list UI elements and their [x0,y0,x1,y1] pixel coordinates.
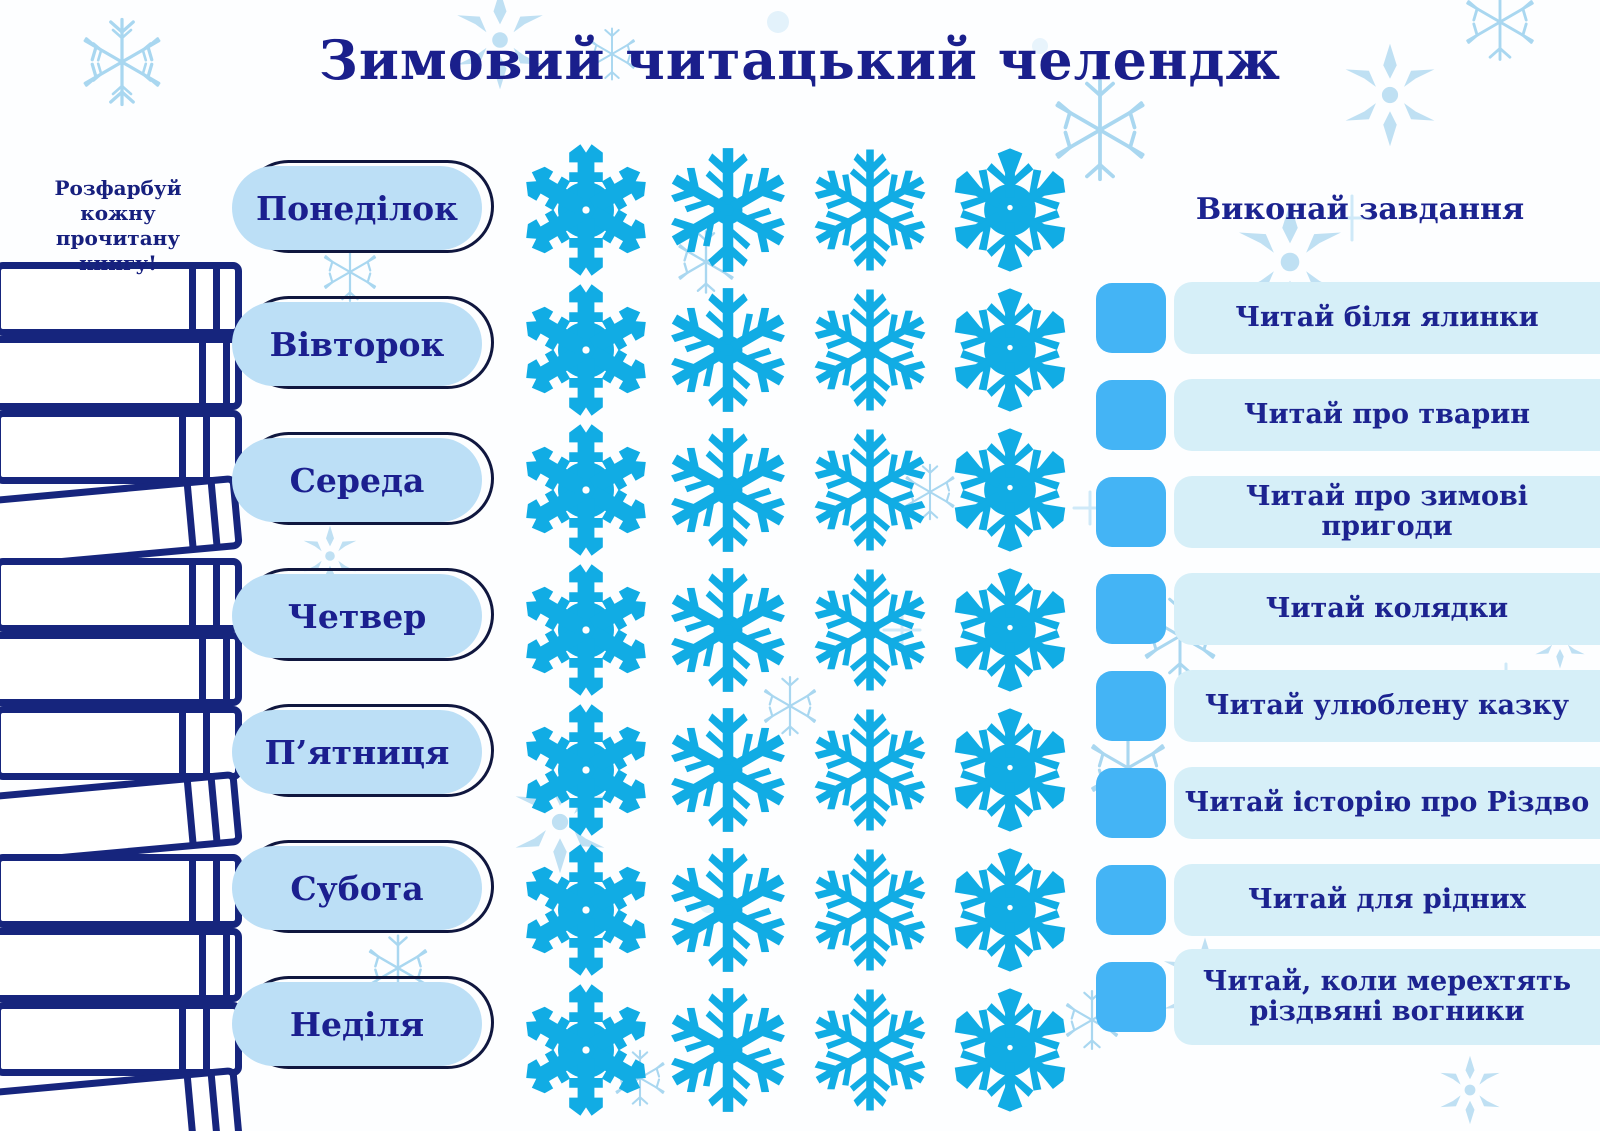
day-pill-7[interactable]: Неділя [232,976,484,1073]
book-spine-line [213,268,220,330]
book-spine-line [199,934,206,996]
book-spine-line [199,638,206,700]
day-pill-label: Понеділок [256,189,458,228]
book-spine-line [223,342,230,404]
task-label-line1: Читай про зимові пригоди [1184,482,1590,542]
snowflake-classic-branch-flake [662,984,794,1116]
task-row-7[interactable]: Читай для рідних [1096,860,1600,940]
task-checkbox[interactable] [1096,574,1166,644]
task-row-2[interactable]: Читай про тварин [1096,375,1600,455]
snowflake-classic-branch-flake [662,424,794,556]
snowflake-dense-burst-flake [948,708,1071,831]
day-pill-6[interactable]: Субота [232,840,484,937]
snowflake-classic-branch-flake [662,704,794,836]
book-spine-line [184,1077,197,1131]
day-pill-fill: Понеділок [232,166,482,250]
day-pill-2[interactable]: Вівторок [232,296,484,393]
book-outline[interactable] [0,632,242,706]
task-label-line1: Читай колядки [1266,594,1508,624]
book-stack [0,262,252,1122]
book-outline[interactable] [0,558,242,632]
task-row-8[interactable]: Читай, коли мерехтятьріздвяні вогники [1096,957,1600,1037]
task-label: Читай улюблену казку [1205,691,1569,721]
task-bar: Читай про зимові пригоди [1174,476,1600,548]
day-pill-label: П’ятниця [265,733,450,772]
book-outline[interactable] [0,1067,243,1131]
task-row-1[interactable]: Читай біля ялинки [1096,278,1600,358]
task-label: Читай біля ялинки [1235,303,1538,333]
snowflake-classic-branch-flake [662,144,794,276]
task-label-line1: Читай для рідних [1248,885,1526,915]
day-pill-label: Середа [290,461,425,500]
snowflake-dense-burst-flake [948,148,1071,271]
day-pill-fill: Середа [232,438,482,522]
day-pill-1[interactable]: Понеділок [232,160,484,257]
task-label-line2: різдвяні вогники [1203,997,1571,1027]
snowflake-classic-branch-flake [662,284,794,416]
book-spine-line [203,416,210,478]
book-spine-line [179,712,186,774]
snowflake-classic-branch-flake [662,564,794,696]
tasks-list: Читай біля ялинкиЧитай про тваринЧитай п… [1096,278,1600,1078]
book-spine-line [208,483,221,545]
book-spine-line [208,779,221,841]
snowflake-pixel-star-flake [516,280,656,420]
task-checkbox[interactable] [1096,768,1166,838]
task-row-3[interactable]: Читай про зимові пригоди [1096,472,1600,552]
snowflake-slim-spike-flake [807,147,933,273]
book-outline[interactable] [0,336,242,410]
task-checkbox[interactable] [1096,671,1166,741]
worksheet-page: Зимовий читацький челендж Розфарбуй кожн… [0,0,1600,1131]
task-checkbox[interactable] [1096,477,1166,547]
book-spine-line [189,860,196,922]
snowflake-pixel-star-flake [516,700,656,840]
snowflake-slim-spike-flake [807,427,933,553]
task-checkbox[interactable] [1096,283,1166,353]
book-spine-line [208,1075,221,1131]
book-spine-line [213,860,220,922]
task-bar: Читай колядки [1174,573,1600,645]
task-label: Читай про тварин [1244,400,1530,430]
day-pill-4[interactable]: Четвер [232,568,484,665]
snowflake-dense-burst-flake [948,568,1071,691]
book-spine-line [223,934,230,996]
task-row-6[interactable]: Читай історію про Різдво [1096,763,1600,843]
task-bar: Читай улюблену казку [1174,670,1600,742]
day-pill-fill: Четвер [232,574,482,658]
task-label: Читай, коли мерехтятьріздвяні вогники [1203,967,1571,1027]
task-label-line1: Читай, коли мерехтять [1203,967,1571,997]
snowflake-slim-spike-flake [807,707,933,833]
task-label-line1: Читай історію про Різдво [1185,788,1590,818]
coloring-instruction: Розфарбуй кожну прочитану книгу! [18,176,218,276]
snowflake-pixel-star-flake [516,140,656,280]
snowflake-pixel-star-flake [516,980,656,1120]
snowflake-dense-burst-flake [948,848,1071,971]
task-label: Читай колядки [1266,594,1508,624]
task-checkbox[interactable] [1096,380,1166,450]
snowflake-slim-spike-flake [807,987,933,1113]
day-pill-label: Вівторок [270,325,445,364]
task-label: Читай історію про Різдво [1185,788,1590,818]
snowflake-classic-branch-flake [662,844,794,976]
days-list: ПонеділокВівторокСередаЧетверП’ятницяСуб… [232,160,502,1120]
snowflake-slim-spike-flake [807,287,933,413]
task-bar: Читай біля ялинки [1174,282,1600,354]
task-label: Читай про зимові пригоди [1184,482,1590,542]
day-pill-fill: Вівторок [232,302,482,386]
task-row-4[interactable]: Читай колядки [1096,569,1600,649]
task-row-5[interactable]: Читай улюблену казку [1096,666,1600,746]
snowflake-pixel-star-flake [516,560,656,700]
book-spine-line [199,342,206,404]
snowflake-pixel-star-flake [516,840,656,980]
book-spine-line [184,781,197,843]
book-outline[interactable] [0,928,242,1002]
snowflake-slim-spike-flake [807,847,933,973]
coloring-instruction-line2: прочитану книгу! [18,226,218,276]
book-outline[interactable] [0,475,243,571]
day-pill-label: Субота [290,869,423,908]
snowflake-dense-burst-flake [948,288,1071,411]
day-pill-fill: Субота [232,846,482,930]
book-outline[interactable] [0,706,242,780]
day-pill-fill: П’ятниця [232,710,482,794]
task-label-line1: Читай про тварин [1244,400,1530,430]
tasks-heading: Виконай завдання [1140,192,1580,227]
book-spine-line [213,564,220,626]
book-spine-line [184,485,197,547]
day-pill-label: Неділя [290,1005,424,1044]
snowflake-grid [516,140,1086,1130]
book-outline[interactable] [0,854,242,928]
snowflake-pixel-star-flake [516,420,656,560]
day-pill-5[interactable]: П’ятниця [232,704,484,801]
book-spine-line [179,416,186,478]
task-bar: Читай про тварин [1174,379,1600,451]
day-pill-3[interactable]: Середа [232,432,484,529]
task-bar: Читай для рідних [1174,864,1600,936]
task-label: Читай для рідних [1248,885,1526,915]
book-spine-line [189,564,196,626]
task-checkbox[interactable] [1096,962,1166,1032]
book-spine-line [179,1008,186,1070]
page-title: Зимовий читацький челендж [0,28,1600,92]
book-outline[interactable] [0,1002,242,1076]
book-spine-line [189,268,196,330]
day-pill-fill: Неділя [232,982,482,1066]
task-bar: Читай, коли мерехтятьріздвяні вогники [1174,949,1600,1045]
task-label-line1: Читай улюблену казку [1205,691,1569,721]
task-label-line1: Читай біля ялинки [1235,303,1538,333]
book-outline[interactable] [0,410,242,484]
book-spine-line [203,1008,210,1070]
day-pill-label: Четвер [288,597,427,636]
task-checkbox[interactable] [1096,865,1166,935]
snowflake-dense-burst-flake [948,428,1071,551]
book-spine-line [223,638,230,700]
task-bar: Читай історію про Різдво [1174,767,1600,839]
coloring-instruction-line1: Розфарбуй кожну [18,176,218,226]
book-spine-line [203,712,210,774]
snowflake-slim-spike-flake [807,567,933,693]
snowflake-dense-burst-flake [948,988,1071,1111]
book-outline[interactable] [0,771,243,867]
